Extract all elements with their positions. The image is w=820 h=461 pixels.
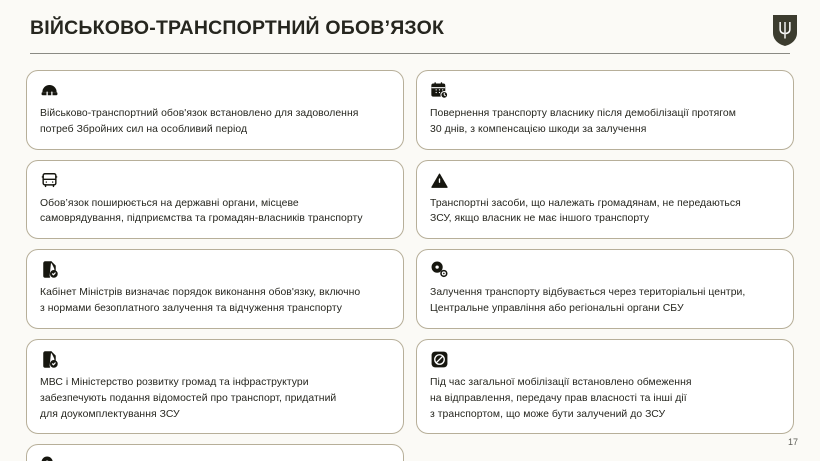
- content-grid: Військово-транспортний обов'язок встанов…: [26, 70, 794, 430]
- page-title: ВІЙСЬКОВО-ТРАНСПОРТНИЙ ОБОВ’ЯЗОК: [30, 17, 444, 40]
- info-card: Залучення транспорту відбувається через …: [416, 249, 794, 329]
- info-card: Кабінет Міністрів визначає порядок викон…: [26, 249, 404, 329]
- card-text: Залучення транспорту відбувається через …: [430, 285, 780, 317]
- calendar-clock-icon: [430, 81, 449, 100]
- info-card: Повернення транспорту власнику після дем…: [416, 70, 794, 150]
- card-text: Повернення транспорту власнику після дем…: [430, 106, 780, 138]
- gears-icon: [430, 260, 449, 279]
- info-card: Обов’язок поширюється на державні органи…: [26, 160, 404, 240]
- right-column: Повернення транспорту власнику після дем…: [416, 70, 794, 430]
- helmet-icon: [40, 81, 59, 100]
- card-text: Обов’язок поширюється на державні органи…: [40, 196, 390, 228]
- info-card: Транспортні засоби, що належать громадян…: [416, 160, 794, 240]
- warning-triangle-icon: [430, 171, 449, 190]
- card-text: Транспортні засоби, що належать громадян…: [430, 196, 780, 228]
- document-check-icon: [40, 350, 59, 369]
- bus-icon: [40, 171, 59, 190]
- left-column: Військово-транспортний обов'язок встанов…: [26, 70, 404, 430]
- page-number: 17: [788, 437, 798, 447]
- info-card: Виконання обов'язку під час мобілізації …: [26, 444, 404, 461]
- document-check-icon: [40, 260, 59, 279]
- card-text: Кабінет Міністрів визначає порядок викон…: [40, 285, 390, 317]
- info-card: МВС і Міністерство розвитку громад та ін…: [26, 339, 404, 434]
- info-card: Військово-транспортний обов'язок встанов…: [26, 70, 404, 150]
- slide-header: ВІЙСЬКОВО-ТРАНСПОРТНИЙ ОБОВ’ЯЗОК: [0, 0, 820, 60]
- ukraine-trident-shield-emblem: [772, 14, 798, 47]
- card-text: МВС і Міністерство розвитку громад та ін…: [40, 375, 390, 422]
- prohibited-icon: [430, 350, 449, 369]
- info-card: Під час загальної мобілізації встановлен…: [416, 339, 794, 434]
- card-text: Військово-транспортний обов'язок встанов…: [40, 106, 390, 138]
- card-text: Під час загальної мобілізації встановлен…: [430, 375, 780, 422]
- gears-icon: [40, 455, 59, 461]
- header-divider: [30, 53, 790, 54]
